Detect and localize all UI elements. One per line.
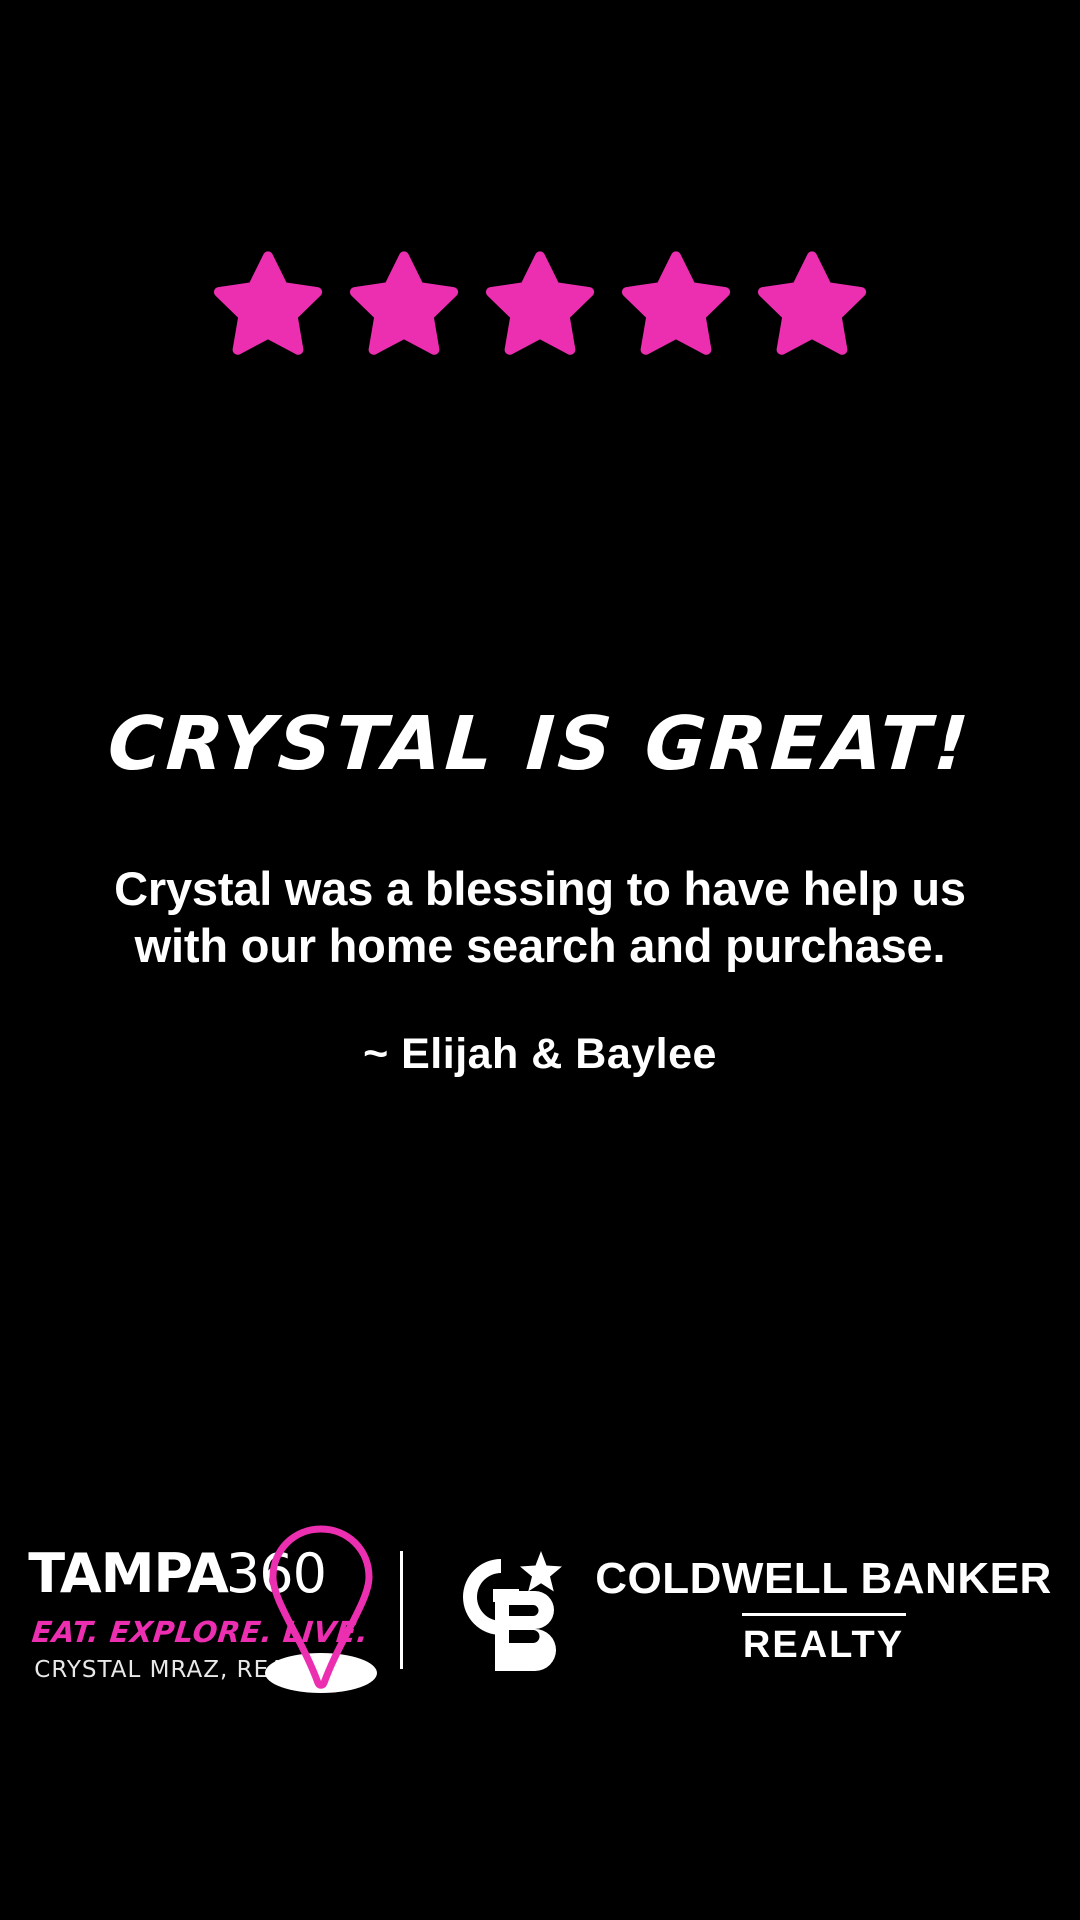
logo-divider <box>400 1551 403 1669</box>
coldwell-banker-name: COLDWELL BANKER <box>595 1557 1051 1601</box>
coldwell-banker-logo: COLDWELL BANKER REALTY <box>449 1535 1051 1685</box>
testimonial-body-line-1: Crystal was a blessing to have help us <box>90 860 990 917</box>
star-icon <box>484 243 596 355</box>
star-icon <box>620 243 732 355</box>
map-pin-icon <box>256 1521 386 1696</box>
star-icon <box>212 243 324 355</box>
cb-monogram-star-icon <box>449 1545 573 1675</box>
testimonial-body-line-2: with our home search and purchase. <box>90 917 990 974</box>
coldwell-banker-text: COLDWELL BANKER REALTY <box>595 1557 1051 1664</box>
star-icon <box>756 243 868 355</box>
coldwell-banker-rule <box>742 1613 906 1616</box>
coldwell-banker-sub: REALTY <box>743 1626 904 1664</box>
star-icon <box>348 243 460 355</box>
testimonial-body: Crystal was a blessing to have help us w… <box>90 860 990 975</box>
footer-logo-bar: TAMPA360 Eat. Explore. Live. CRYSTAL MRA… <box>0 1520 1080 1700</box>
tampa360-word: TAMPA <box>28 1547 228 1601</box>
star-rating <box>0 243 1080 355</box>
testimonial-attribution: ~ Elijah & Baylee <box>0 1030 1080 1079</box>
testimonial-headline: Crystal is great! <box>0 706 1080 784</box>
tampa360-logo: TAMPA360 Eat. Explore. Live. CRYSTAL MRA… <box>28 1525 358 1695</box>
testimonial-card: Crystal is great! Crystal was a blessing… <box>0 0 1080 1920</box>
